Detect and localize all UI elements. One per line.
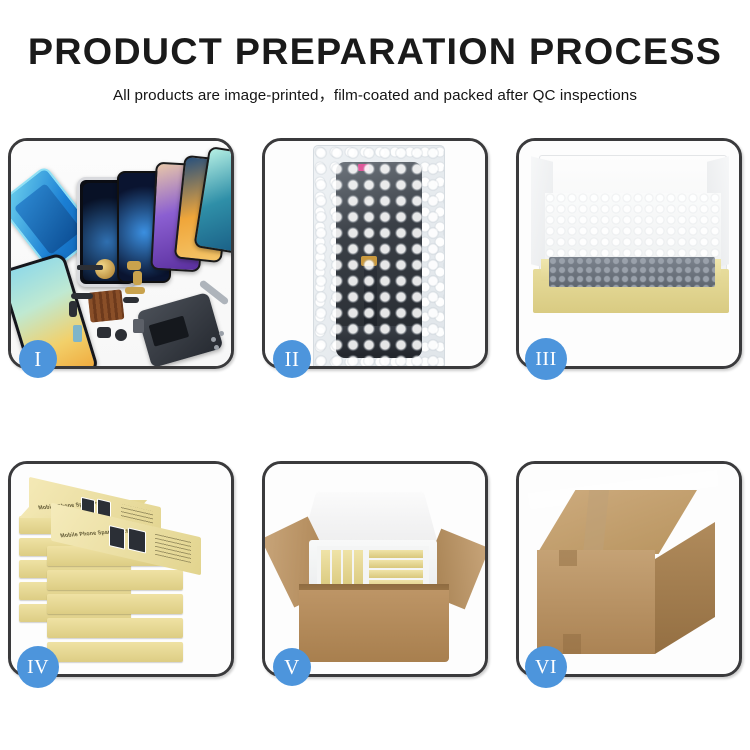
step-3-image [519,141,739,366]
box-stack: Mobile Phone Spare Parts Mobile Phone Sp… [17,476,227,666]
flex-connector-b [133,271,142,285]
stacked-box [47,618,183,638]
steps-grid: I II [8,138,742,678]
flex-cable-b [69,301,77,317]
screw-c [214,345,219,350]
button-part [133,319,144,333]
step-panel-3: III [516,138,742,369]
antenna-strip [77,265,103,270]
yellow-box-item-flat [369,560,423,568]
carton-body [299,590,449,662]
screw-b [219,331,224,336]
step-panel-4: Mobile Phone Spare Parts Mobile Phone Sp… [8,461,234,677]
step-badge-2: II [273,340,311,378]
step-badge-4: IV [17,646,59,688]
carton-front-face [537,550,655,654]
yellow-box-item-flat [369,570,423,578]
bubble-wrapped-contents [549,257,715,287]
step-panel-5: V [262,461,488,677]
step-1-image [11,141,231,366]
stacked-box [47,642,183,662]
phone-parts-collage [11,141,231,366]
stacked-box [47,594,183,614]
copper-mesh-part [88,289,125,322]
step-panel-2: II [262,138,488,369]
step-badge-5: V [273,648,311,686]
box-spec-lines [155,533,191,563]
sensor-part [73,325,82,342]
flex-cable-c [125,287,145,294]
flex-cable-a [71,293,93,299]
flex-connector-top [361,256,377,266]
flex-cable-d [123,297,139,303]
carton-seam-top [559,550,577,566]
step-panel-6: VI [516,461,742,677]
camera-module [97,327,111,338]
vibration-motor [115,329,127,341]
step-4-image: Mobile Phone Spare Parts Mobile Phone Sp… [11,464,231,674]
page-subtitle: All products are image-printed，film-coat… [0,83,750,105]
header: PRODUCT PREPARATION PROCESS All products… [0,0,750,105]
step-badge-3: III [525,338,567,380]
stacked-box [47,570,183,590]
step-5-image [265,464,485,674]
step-panel-1: I [8,138,234,369]
step-badge-6: VI [525,646,567,688]
step-badge-1: I [19,340,57,378]
bubble-wrap-bag [313,145,445,366]
screw-a [211,337,216,342]
driver-board [338,326,420,356]
box-screen-graphic [109,525,125,550]
phone-back-housing [136,292,223,366]
flex-connector-a [127,261,141,270]
box-screen-graphic [128,527,146,553]
product-preparation-infographic: PRODUCT PREPARATION PROCESS All products… [0,0,750,750]
step-6-image [519,464,739,674]
page-title: PRODUCT PREPARATION PROCESS [0,30,750,74]
pink-label [358,164,369,171]
step-2-image [265,141,485,366]
yellow-box-item-flat [369,550,423,558]
carton-seam-bottom [563,634,581,654]
